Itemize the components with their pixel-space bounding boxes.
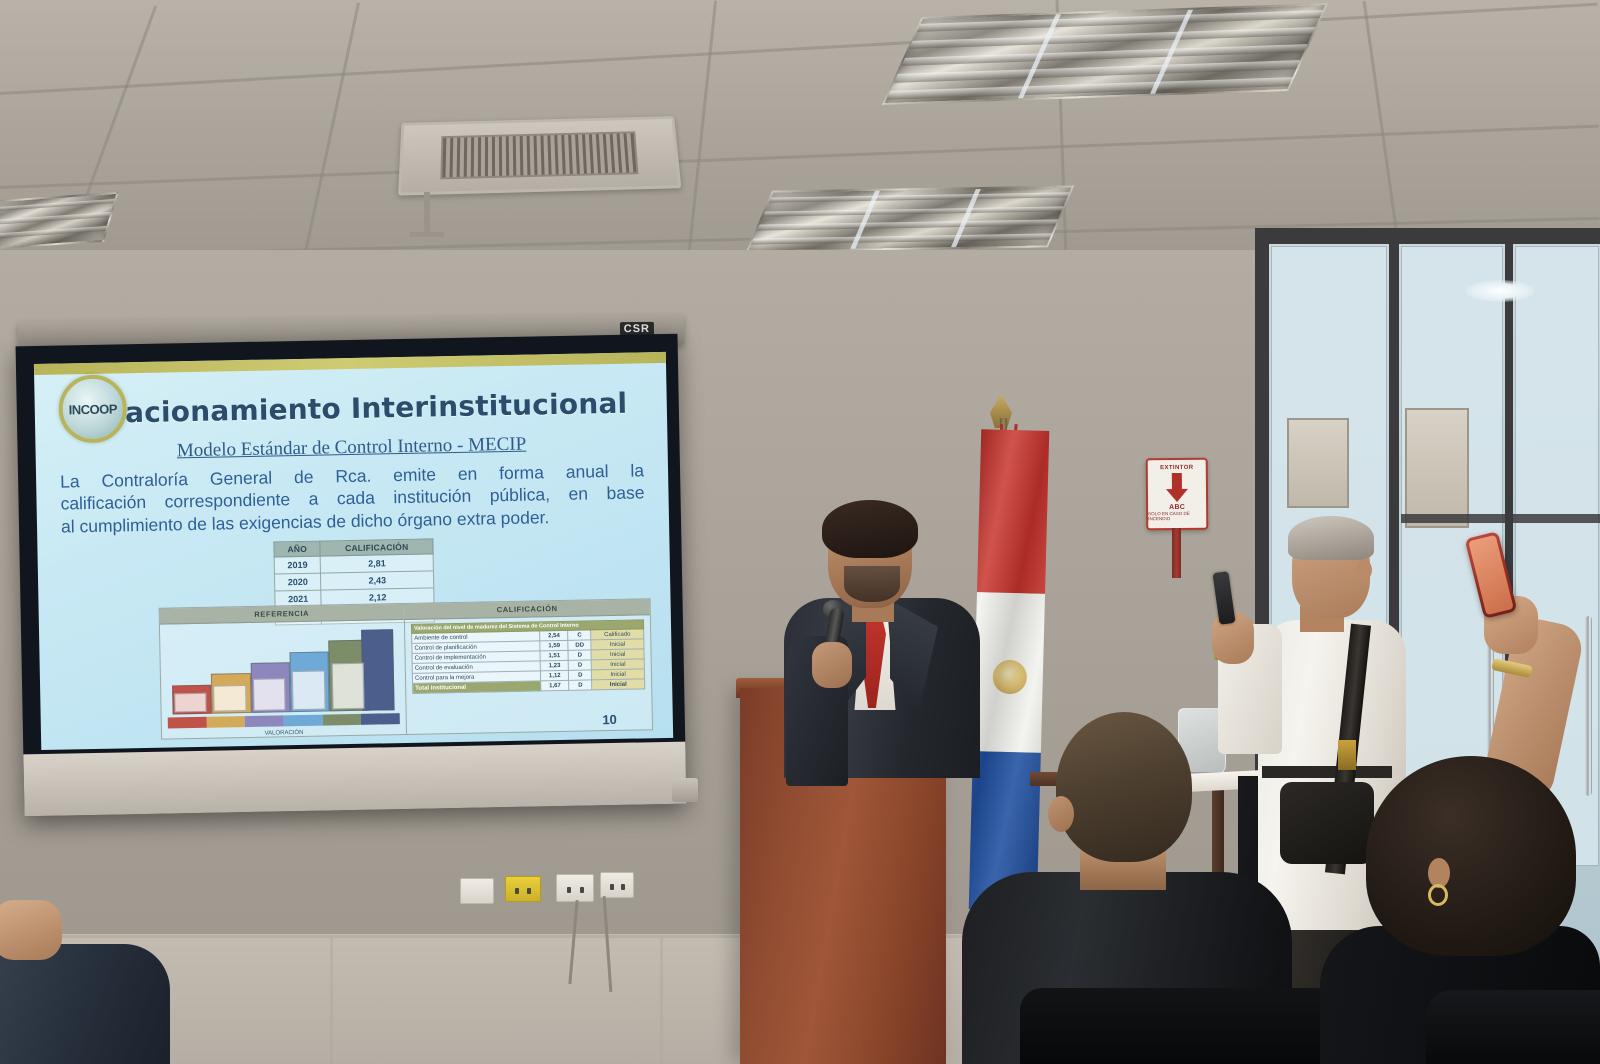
referencia-panel: REFERENCIA: [160, 604, 407, 739]
cell-status: Inicial: [592, 679, 645, 690]
bottom-left-person-leg: [0, 944, 170, 1064]
cell-grade: DD: [568, 640, 591, 650]
standing-man-hair: [1288, 516, 1374, 560]
cell-year: 2019: [274, 556, 321, 574]
column-header-anio: AÑO: [274, 541, 321, 557]
seated-woman-hair: [1366, 756, 1576, 956]
strap-buckle-icon: [1338, 740, 1356, 770]
slide-page-number: 10: [602, 712, 617, 727]
speaker-hand: [812, 642, 852, 688]
wall-outlet-2[interactable]: [556, 874, 594, 902]
extinguisher-sign-post: [1172, 528, 1181, 578]
door-handle-2[interactable]: [1585, 616, 1592, 796]
slide-title: Relacionamiento Interinstitucional: [45, 386, 658, 431]
cell-year: 2020: [274, 573, 321, 591]
cell-grade: D: [569, 670, 592, 680]
cell-value: 1,12: [541, 670, 569, 681]
cell-component: Total institucional: [413, 681, 541, 693]
wall-outlet-3[interactable]: [600, 872, 634, 898]
cell-grade: D: [568, 650, 591, 660]
conference-room-photo: EXTINTOR ABC SOLO EN CASO DE INCENDIO CS…: [0, 0, 1600, 1064]
wall-panel-art-2: [1405, 408, 1469, 528]
bottom-left-person-hand: [0, 900, 62, 960]
valoracion-color-scale: [168, 713, 400, 728]
slide-subtitle: Modelo Estándar de Control Interno - MEC…: [45, 431, 657, 465]
cell-value: 1,51: [540, 650, 568, 661]
cell-value: 2,54: [540, 630, 568, 641]
extinguisher-sign-subtext: SOLO EN CASO DE INCENDIO: [1148, 511, 1206, 522]
standing-man-ear: [1356, 560, 1372, 580]
slide-bottom-panel: REFERENCIA: [159, 598, 653, 739]
wall-outlet-yellow[interactable]: [505, 876, 541, 902]
fire-extinguisher-sign: EXTINTOR ABC SOLO EN CASO DE INCENDIO: [1146, 458, 1209, 531]
calificacion-header: CALIFICACIÓN: [405, 599, 650, 620]
paraguay-flag: [969, 429, 1050, 911]
chair-back-center: [1020, 988, 1350, 1064]
speaker-hair: [822, 500, 918, 558]
down-arrow-icon: [1166, 473, 1188, 503]
cell-value: 1,59: [540, 640, 568, 651]
slide-surface: INCOOP Relacionamiento Interinstituciona…: [34, 352, 673, 750]
glass-reflection-light: [1465, 280, 1535, 302]
screen-wall-mount: [672, 778, 698, 802]
cell-score: 2,43: [321, 571, 434, 590]
ceiling-ac-vent: [398, 116, 681, 196]
slide-logo-text: INCOOP: [68, 401, 117, 417]
cell-grade: C: [568, 630, 591, 640]
cell-value: 1,23: [540, 660, 568, 671]
cell-grade: D: [568, 660, 591, 670]
valoracion-caption: VALORACIÓN: [162, 728, 406, 739]
seated-man-ear: [1048, 796, 1074, 832]
referencia-header: REFERENCIA: [160, 604, 404, 625]
ceiling-light-secondary: [746, 185, 1075, 252]
shoulder-bag: [1280, 782, 1374, 864]
cell-grade: D: [569, 680, 592, 690]
slide-top-bar: [34, 352, 666, 375]
ceiling-light-left: [0, 192, 119, 250]
speaker-beard: [844, 566, 900, 602]
chair-back-right: [1426, 990, 1600, 1064]
slide-paragraph: La Contraloría General de Rca. emite en …: [60, 459, 645, 537]
cell-value: 1,67: [541, 680, 569, 691]
standing-man-belt: [1262, 766, 1392, 778]
seated-man-head-back: [1056, 712, 1192, 862]
ceiling-light-main: [882, 3, 1328, 105]
wall-outlet-1[interactable]: [460, 878, 494, 904]
maturity-pyramid-diagram: [166, 624, 400, 714]
incoop-logo-icon: INCOOP: [58, 374, 127, 443]
screen-bottom-bar: [23, 742, 686, 817]
presentation-slide: INCOOP Relacionamiento Interinstituciona…: [34, 352, 673, 750]
hoop-earring-icon: [1428, 884, 1448, 906]
projection-screen: INCOOP Relacionamiento Interinstituciona…: [16, 334, 687, 817]
extinguisher-sign-top-label: EXTINTOR: [1160, 465, 1193, 471]
mecip-components-table: Valoración del nivel de madurez del Sist…: [411, 619, 645, 693]
wall-panel-art-1: [1287, 418, 1349, 508]
cell-score: 2,81: [321, 554, 434, 573]
